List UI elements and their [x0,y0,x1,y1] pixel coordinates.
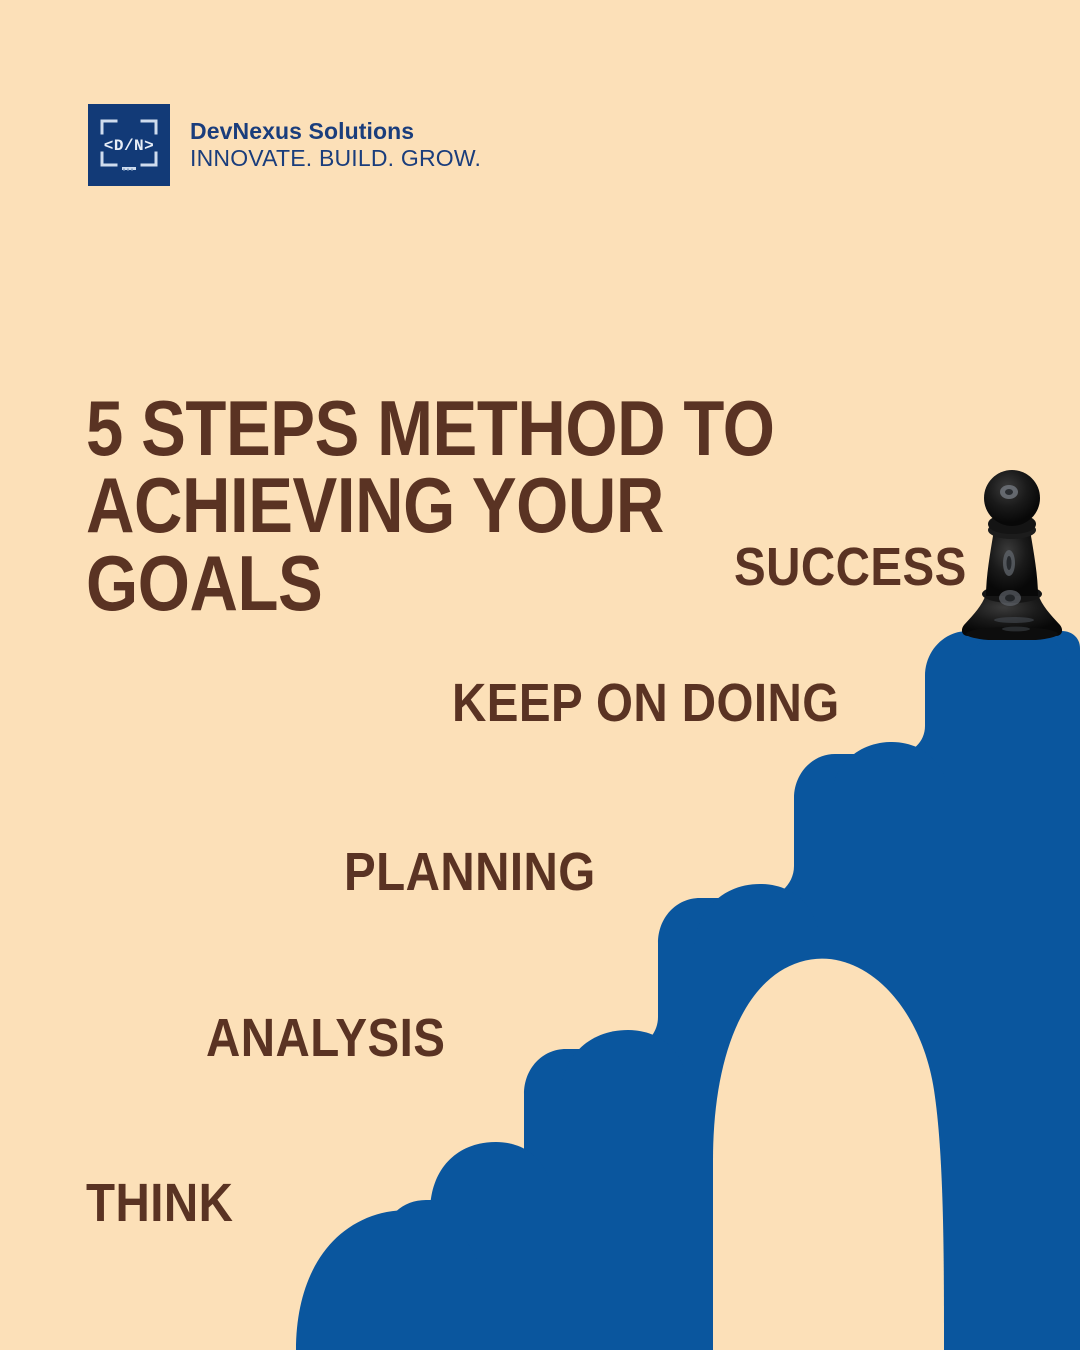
step-label-think: THINK [86,1176,233,1230]
page-title-line-3: Goals [86,545,619,622]
step-label-success: SUCCESS [734,540,967,594]
brand-name: DevNexus Solutions [190,118,481,145]
page-title: 5 Steps Method To Achieving Your Goals [86,390,619,622]
brand-text: DevNexus Solutions INNOVATE. BUILD. GROW… [190,118,481,171]
chess-pawn-icon [952,468,1072,640]
step-label-keep-on-doing: KEEP ON DOING [452,676,840,730]
brand-tagline: INNOVATE. BUILD. GROW. [190,145,481,172]
brand-mark-icon: <D/N> [88,104,170,186]
page-title-line-2: Achieving Your [86,467,619,544]
page-title-line-1: 5 Steps Method To [86,390,619,467]
step-label-analysis: ANALYSIS [206,1011,445,1065]
svg-text:<D/N>: <D/N> [104,137,155,155]
brand-logo[interactable]: <D/N> DevNexus Solutions INNOVATE. BUILD… [88,104,481,186]
poster-canvas: <D/N> DevNexus Solutions INNOVATE. BUILD… [0,0,1080,1350]
step-label-planning: PLANNING [344,845,596,899]
